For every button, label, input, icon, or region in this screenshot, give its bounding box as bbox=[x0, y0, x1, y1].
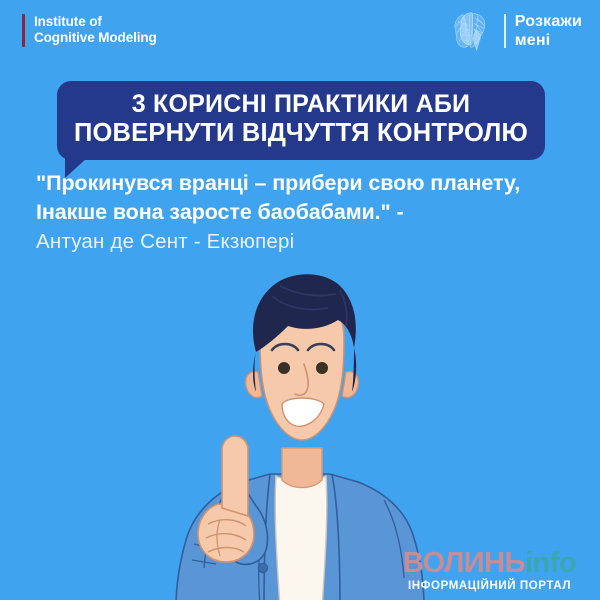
watermark-main-part2: info bbox=[525, 547, 576, 579]
watermark-main-part1: ВОЛИНЬ bbox=[403, 547, 525, 579]
right-eye bbox=[316, 362, 328, 374]
rozkazhy-meni-logo: Розкажи мені bbox=[449, 8, 582, 54]
head-group bbox=[246, 274, 359, 440]
institute-logo-line1: Institute of bbox=[34, 14, 157, 30]
logo-accent-bar bbox=[22, 14, 25, 47]
rozkazhy-meni-line1: Розкажи bbox=[515, 12, 582, 31]
brain-wireframe-icon bbox=[449, 8, 495, 54]
rozkazhy-meni-text: Розкажи мені bbox=[515, 12, 582, 50]
poster-canvas: Institute of Cognitive Modeling Розкажи … bbox=[0, 0, 600, 600]
logo-divider bbox=[504, 14, 506, 48]
institute-logo-text: Institute of Cognitive Modeling bbox=[34, 14, 157, 47]
watermark-subtitle: ІНФОРМАЦІЙНИЙ ПОРТАЛ bbox=[387, 581, 592, 593]
quote-block: "Прокинувся вранці – прибери свою планет… bbox=[36, 169, 576, 257]
headline-banner: 3 КОРИСНІ ПРАКТИКИ АБИ ПОВЕРНУТИ ВІДЧУТТ… bbox=[57, 81, 545, 160]
institute-logo-line2: Cognitive Modeling bbox=[34, 30, 157, 46]
headline-line2: ПОВЕРНУТИ ВІДЧУТТЯ КОНТРОЛЮ bbox=[73, 119, 529, 149]
left-eye bbox=[278, 362, 290, 374]
quote-author: Антуан де Сент - Екзюпері bbox=[36, 227, 576, 258]
rozkazhy-meni-line2: мені bbox=[515, 31, 582, 50]
volyn-info-watermark: ВОЛИНЬinfo ІНФОРМАЦІЙНИЙ ПОРТАЛ bbox=[387, 549, 592, 593]
watermark-main: ВОЛИНЬinfo bbox=[387, 549, 592, 578]
headline-line1: 3 КОРИСНІ ПРАКТИКИ АБИ bbox=[73, 90, 529, 119]
headline-banner-wrapper: 3 КОРИСНІ ПРАКТИКИ АБИ ПОВЕРНУТИ ВІДЧУТТ… bbox=[57, 81, 545, 160]
quote-line1: "Прокинувся вранці – прибери свою планет… bbox=[36, 169, 576, 198]
quote-line2: Інакше вона зaросте баобабами." - bbox=[36, 198, 576, 227]
institute-logo: Institute of Cognitive Modeling bbox=[22, 14, 157, 47]
jacket-button bbox=[258, 563, 267, 572]
